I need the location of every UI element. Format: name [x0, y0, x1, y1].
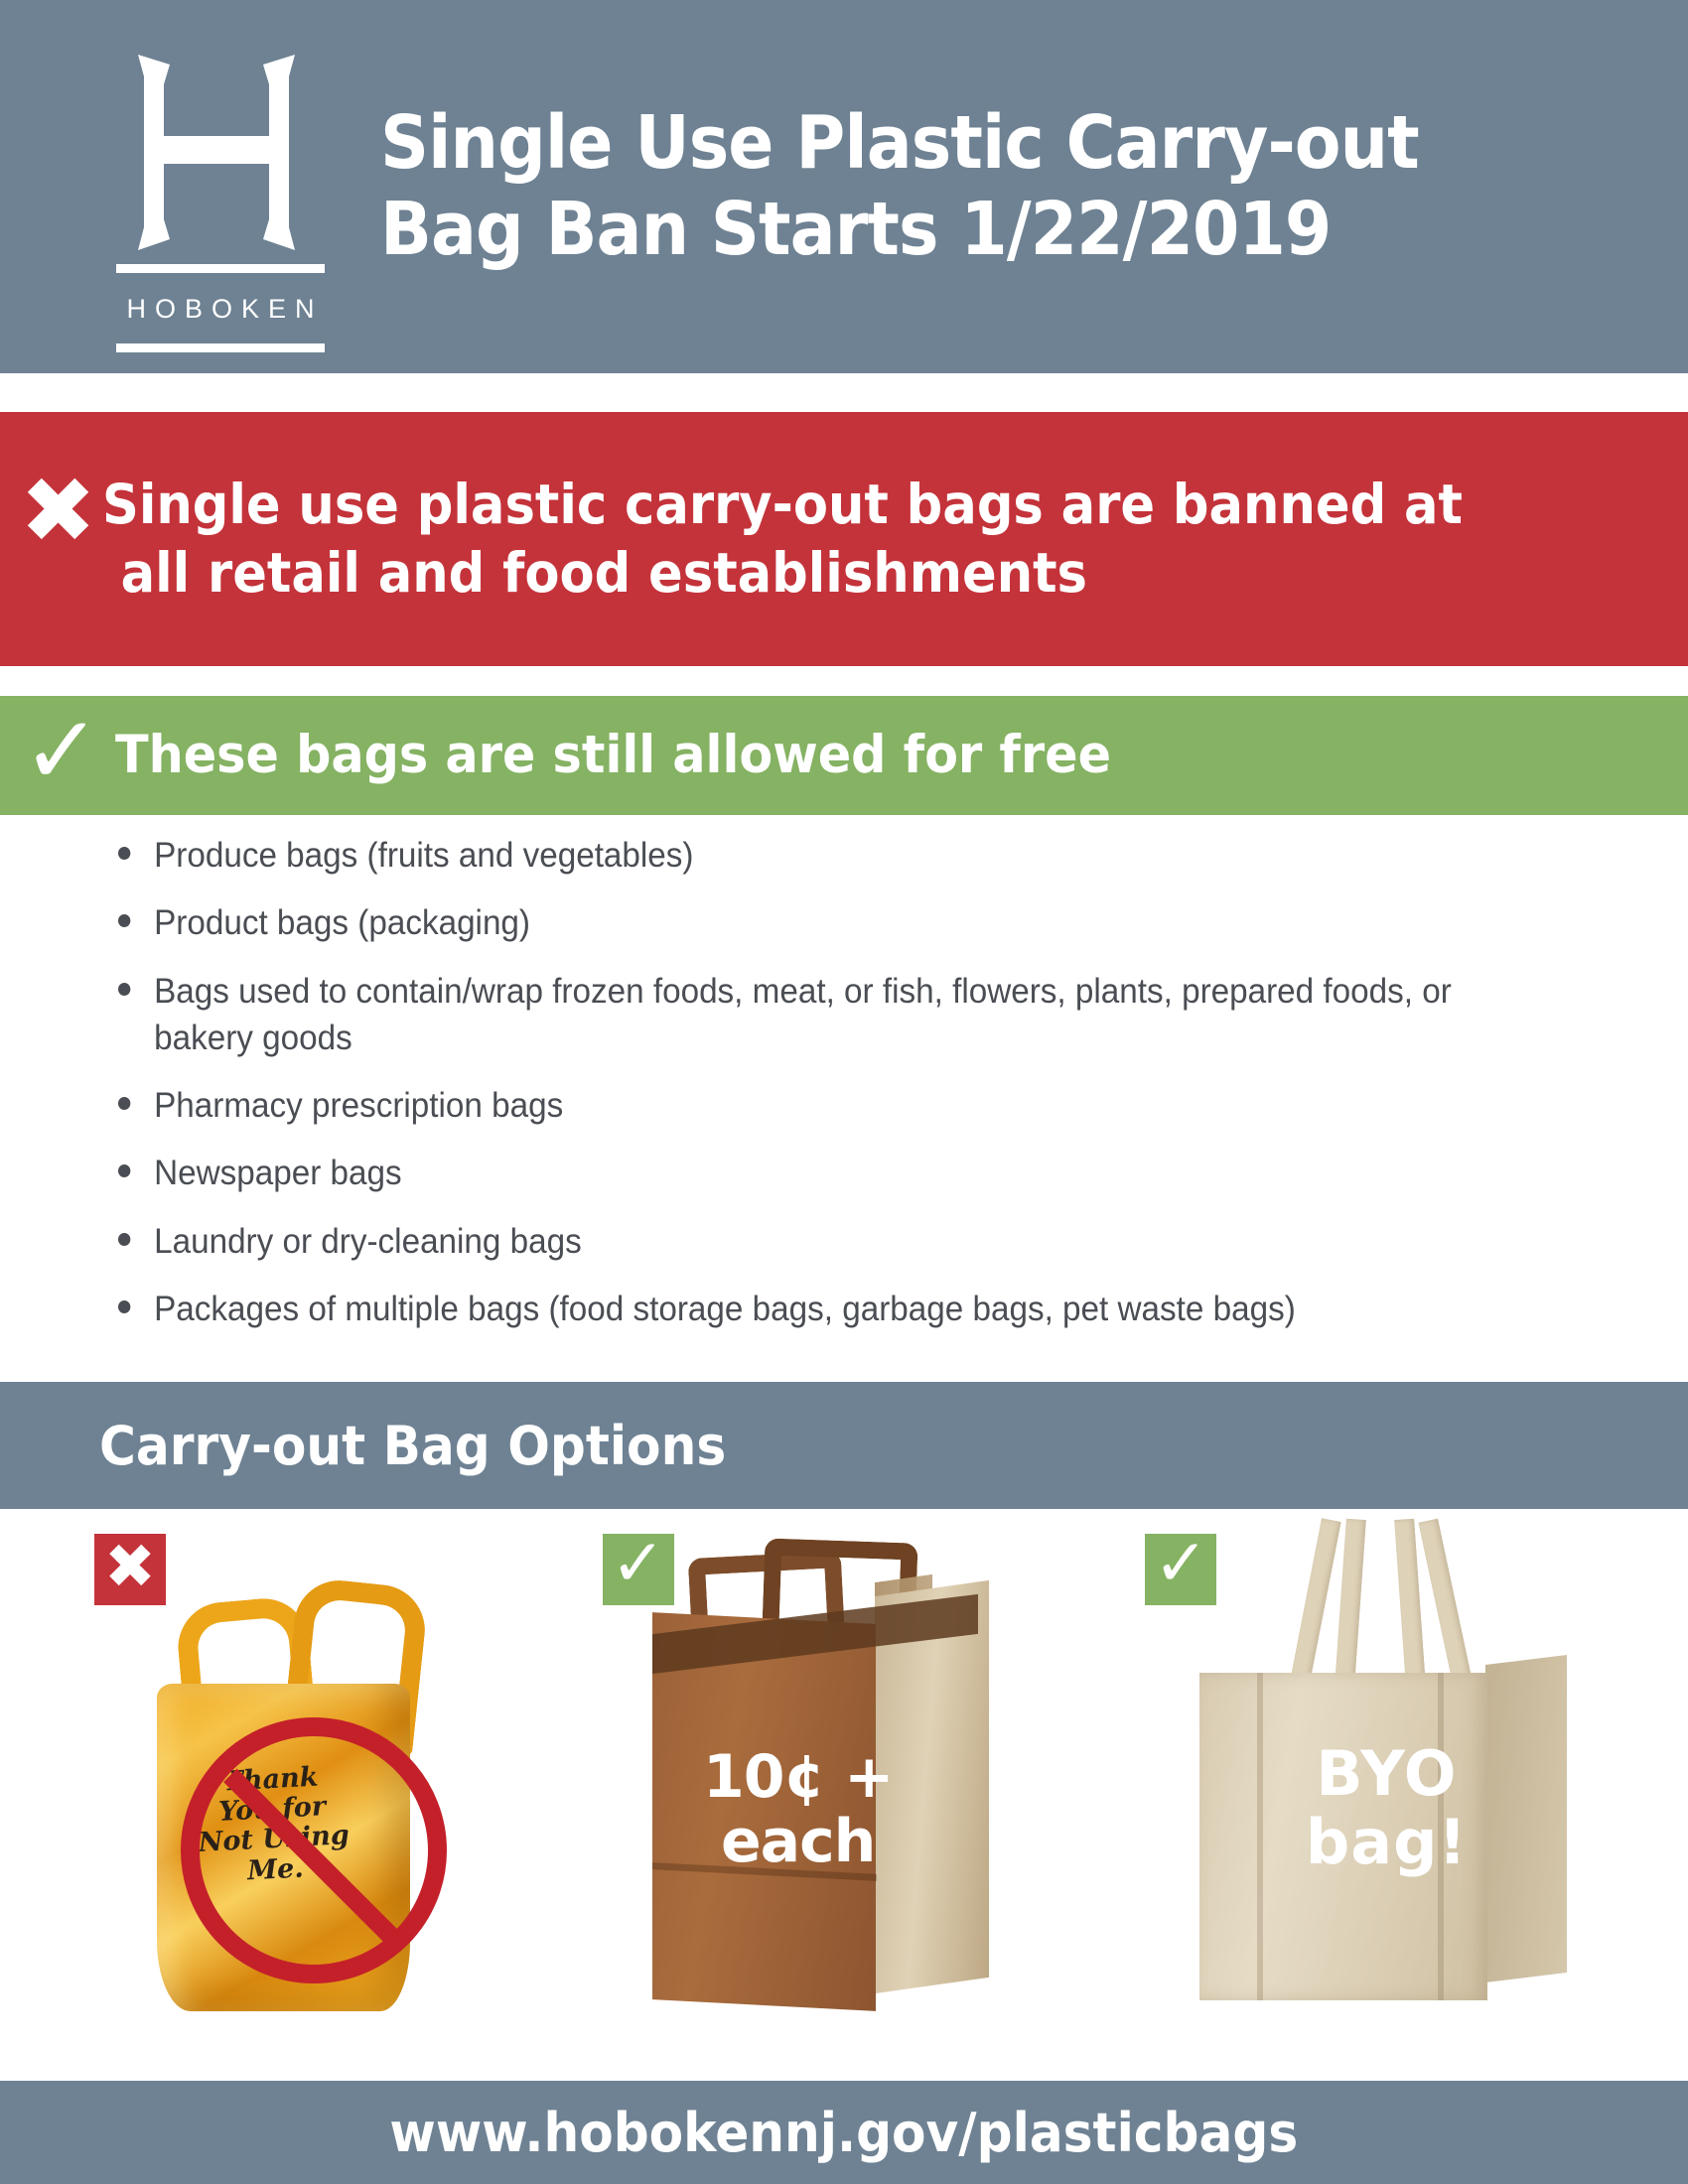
bag-options-row: ✖ Thank You for Not Using Me.: [0, 1509, 1688, 2080]
tote-label-line-1: BYO: [1316, 1737, 1457, 1810]
list-item: Product bags (packaging): [99, 899, 1552, 946]
header-banner: HOBOKEN Single Use Plastic Carry-out Bag…: [0, 0, 1688, 373]
tote-seam: [1257, 1673, 1263, 2000]
page-title-line-2: Bag Ban Starts 1/22/2019: [380, 187, 1419, 273]
carry-out-options-title: Carry-out Bag Options: [99, 1415, 726, 1477]
option-paper-bag: ✓ 10¢ + each: [563, 1509, 1126, 2080]
option-reusable-tote-bag: ✓ BYO bag!: [1125, 1509, 1688, 2080]
list-item: Bags used to contain/wrap frozen foods, …: [99, 968, 1552, 1062]
allowed-banner-title: These bags are still allowed for free: [115, 723, 1111, 788]
banned-text-line-1: Single use plastic carry-out bags are ba…: [102, 471, 1463, 539]
paper-bag-price-line-1: 10¢ +: [703, 1742, 893, 1812]
plastic-bag-image: Thank You for Not Using Me.: [109, 1537, 457, 2053]
x-mark-icon: ✖: [20, 466, 96, 557]
allowed-banner: ✓ These bags are still allowed for free: [0, 696, 1688, 815]
tote-strap: [1335, 1519, 1366, 1689]
tote-strap: [1395, 1519, 1427, 1689]
page-title: Single Use Plastic Carry-out Bag Ban Sta…: [380, 100, 1437, 274]
check-badge-icon: ✓: [1145, 1534, 1216, 1605]
tote-strap: [1290, 1518, 1341, 1690]
x-badge-glyph: ✖: [104, 1536, 156, 1597]
x-badge-icon: ✖: [94, 1534, 166, 1605]
tote-strap: [1419, 1519, 1474, 1690]
hoboken-wordmark: HOBOKEN: [116, 282, 325, 336]
tote-bag-label: BYO bag!: [1267, 1739, 1505, 1877]
list-item: Packages of multiple bags (food storage …: [99, 1286, 1552, 1332]
banned-text-line-2: all retail and food establishments: [102, 539, 1463, 608]
check-badge-glyph: ✓: [1154, 1531, 1208, 1596]
allowed-banner-text: These bags are still allowed for free: [115, 723, 1111, 788]
allowed-bags-list: Produce bags (fruits and vegetables) Pro…: [99, 832, 1628, 1332]
no-symbol-icon: [181, 1717, 447, 1983]
hoboken-h-icon: [128, 51, 307, 254]
list-item: Newspaper bags: [99, 1150, 1552, 1196]
list-item: Pharmacy prescription bags: [99, 1082, 1552, 1129]
logo-rule-bottom: [116, 343, 325, 352]
plastic-bag-art: Thank You for Not Using Me.: [139, 1567, 427, 2013]
allowed-bags-list-section: Produce bags (fruits and vegetables) Pro…: [0, 832, 1688, 1380]
logo-rule-top: [116, 264, 325, 273]
check-mark-icon: ✓: [22, 703, 101, 798]
poster-page: HOBOKEN Single Use Plastic Carry-out Bag…: [0, 0, 1688, 2184]
banned-banner-text: Single use plastic carry-out bags are ba…: [102, 471, 1463, 608]
paper-bag-price-line-2: each: [721, 1807, 875, 1876]
hoboken-logo: HOBOKEN: [104, 41, 362, 339]
list-item: Produce bags (fruits and vegetables): [99, 832, 1552, 879]
footer-url[interactable]: www.hobokennj.gov/plasticbags: [390, 2102, 1299, 2164]
carry-out-options-banner: Carry-out Bag Options: [0, 1382, 1688, 1509]
option-plastic-bag: ✖ Thank You for Not Using Me.: [0, 1509, 563, 2080]
list-item: Laundry or dry-cleaning bags: [99, 1218, 1552, 1265]
footer-banner: www.hobokennj.gov/plasticbags: [0, 2081, 1688, 2184]
banned-banner: ✖ Single use plastic carry-out bags are …: [0, 412, 1688, 666]
check-badge-icon: ✓: [603, 1534, 674, 1605]
page-title-line-1: Single Use Plastic Carry-out: [380, 100, 1419, 187]
paper-bag-price-label: 10¢ + each: [644, 1745, 952, 1874]
check-badge-glyph: ✓: [611, 1531, 665, 1596]
tote-label-line-2: bag!: [1306, 1806, 1468, 1878]
